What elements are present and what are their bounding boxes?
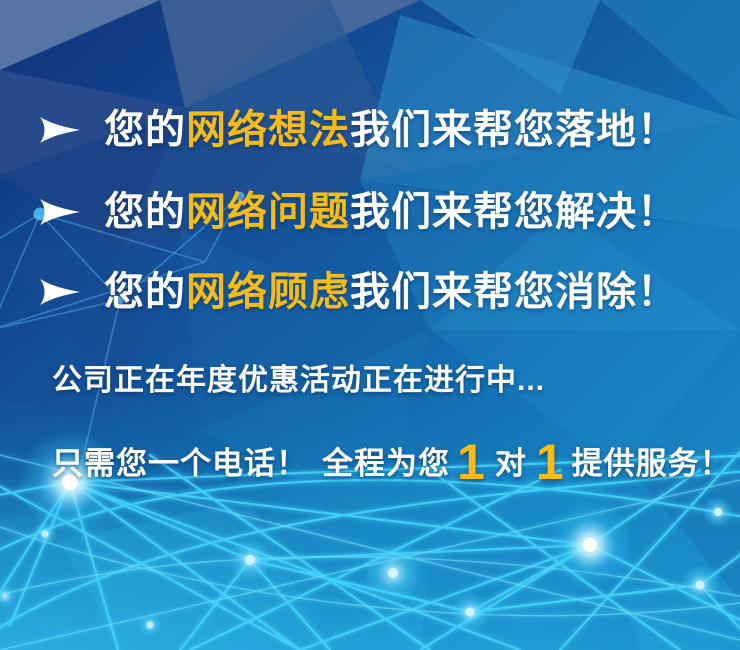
headline-text-1: 您的网络想法我们来帮您落地！ [104,110,678,150]
headline-text-2: 您的网络问题我们来帮您解决！ [104,192,678,232]
arrow-right-triangle-icon [38,197,82,227]
headline-3-prefix: 您的 [104,270,186,314]
headline-1-suffix: 我们来帮您落地！ [350,108,678,152]
service-text-part2: 全程为您 [322,448,450,479]
service-text-part3: 提供服务！ [572,448,732,479]
headline-row-2: 您的网络问题我们来帮您解决！ [0,186,740,238]
service-text: 只需您一个电话！ 全程为您 1 对 1 提供服务！ [52,432,732,482]
arrow-right-triangle-icon [38,277,82,307]
service-number-one-a: 1 [450,437,493,487]
promo-text: 公司正在年度优惠活动正在进行中... [52,366,545,396]
headline-3-suffix: 我们来帮您消除！ [350,270,678,314]
headline-text-3: 您的网络顾虑我们来帮您消除！ [104,272,678,312]
headline-2-suffix: 我们来帮您解决！ [350,190,678,234]
headline-1-highlight: 网络想法 [186,108,350,152]
headline-2-highlight: 网络问题 [186,190,350,234]
service-text-part1: 只需您一个电话！ [52,448,308,479]
arrow-right-triangle-icon [38,115,82,145]
service-number-one-b: 1 [529,437,572,487]
service-text-mid: 对 [493,448,529,479]
headline-2-prefix: 您的 [104,190,186,234]
headline-3-highlight: 网络顾虑 [186,270,350,314]
headline-row-1: 您的网络想法我们来帮您落地！ [0,104,740,156]
promo-banner: 您的网络想法我们来帮您落地！ 您的网络问题我们来帮您解决！ 您的网络顾虑我们来帮… [0,0,740,650]
banner-content: 您的网络想法我们来帮您落地！ 您的网络问题我们来帮您解决！ 您的网络顾虑我们来帮… [0,0,740,650]
headline-row-3: 您的网络顾虑我们来帮您消除！ [0,266,740,318]
headline-1-prefix: 您的 [104,108,186,152]
